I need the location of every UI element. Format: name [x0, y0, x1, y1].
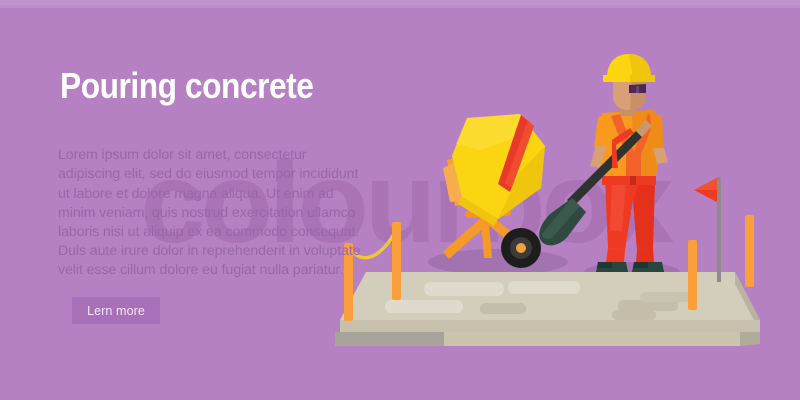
worker-sleeve	[594, 114, 608, 150]
worker-neck	[620, 100, 636, 116]
concrete-mixer	[443, 114, 545, 268]
safety-barrier	[344, 215, 754, 321]
worker-pants-shade	[633, 180, 655, 250]
mixer-leg	[481, 212, 536, 259]
body-paragraph: Lorem ipsum dolor sit amet, consectetur …	[58, 146, 370, 280]
worker-sleeve	[650, 112, 664, 150]
handle-bar	[612, 128, 634, 145]
top-edge-strip-secondary	[0, 5, 800, 8]
shovel-handle	[567, 131, 642, 206]
slab-patch	[618, 300, 678, 311]
mixer-shadow	[428, 249, 568, 275]
mixer-wheel	[501, 228, 541, 268]
mixer-drum	[452, 114, 545, 219]
slab-patch	[612, 310, 656, 320]
safety-post	[745, 215, 754, 287]
worker-head	[613, 72, 645, 110]
handle-bar	[612, 140, 618, 168]
worker-shadow	[584, 262, 680, 282]
worker-shoe	[596, 262, 628, 272]
flag-cloth	[694, 178, 717, 202]
slab-patch	[640, 292, 692, 302]
safety-post	[688, 240, 697, 310]
mixer-wheel-hub	[516, 243, 526, 253]
mixer-crossbar	[465, 209, 511, 218]
page-title: Pouring concrete	[60, 68, 313, 104]
worker-sunglasses	[629, 84, 646, 93]
learn-more-button[interactable]: Lern more	[72, 297, 160, 324]
mixer-leg	[447, 196, 513, 255]
mixer-leg	[479, 200, 492, 258]
slab-patch	[424, 282, 504, 296]
worker-vest-strap	[611, 114, 634, 182]
worker-helmet-shade	[629, 54, 651, 78]
flag-pole	[717, 177, 721, 282]
worker-shirt	[598, 110, 660, 182]
concrete-slab	[335, 272, 760, 346]
worker-shirt-shade	[632, 110, 660, 182]
shovel	[539, 120, 652, 245]
mixer-drum-highlight	[456, 114, 534, 150]
worker-shoe	[632, 262, 664, 272]
slab-patch	[480, 303, 526, 314]
mixer-wheel-inner	[510, 237, 532, 259]
safety-post	[392, 222, 401, 300]
mixer-chute	[447, 148, 500, 206]
shovel-blade	[539, 198, 586, 245]
worker-face-shade	[630, 72, 645, 110]
warning-flag	[694, 177, 721, 282]
slab-patch	[385, 300, 463, 313]
banner-illustration: colourbox	[0, 0, 800, 400]
slab-patch	[508, 281, 580, 294]
worker-arm	[590, 146, 606, 168]
shovel-grip	[636, 120, 652, 137]
worker-arm	[653, 148, 668, 164]
worker-helmet-brim	[603, 75, 655, 82]
worker-helmet	[607, 54, 651, 78]
mixer-drum-shade	[498, 146, 545, 219]
mixer-handle	[612, 128, 634, 168]
mixer-stripe	[498, 115, 534, 192]
worker-pants	[605, 180, 655, 250]
worker-pants-highlight	[610, 182, 626, 232]
mixer-leg	[443, 212, 493, 259]
worker-belt	[602, 176, 656, 185]
worker-vest-strap	[634, 114, 656, 182]
construction-worker	[590, 54, 668, 272]
